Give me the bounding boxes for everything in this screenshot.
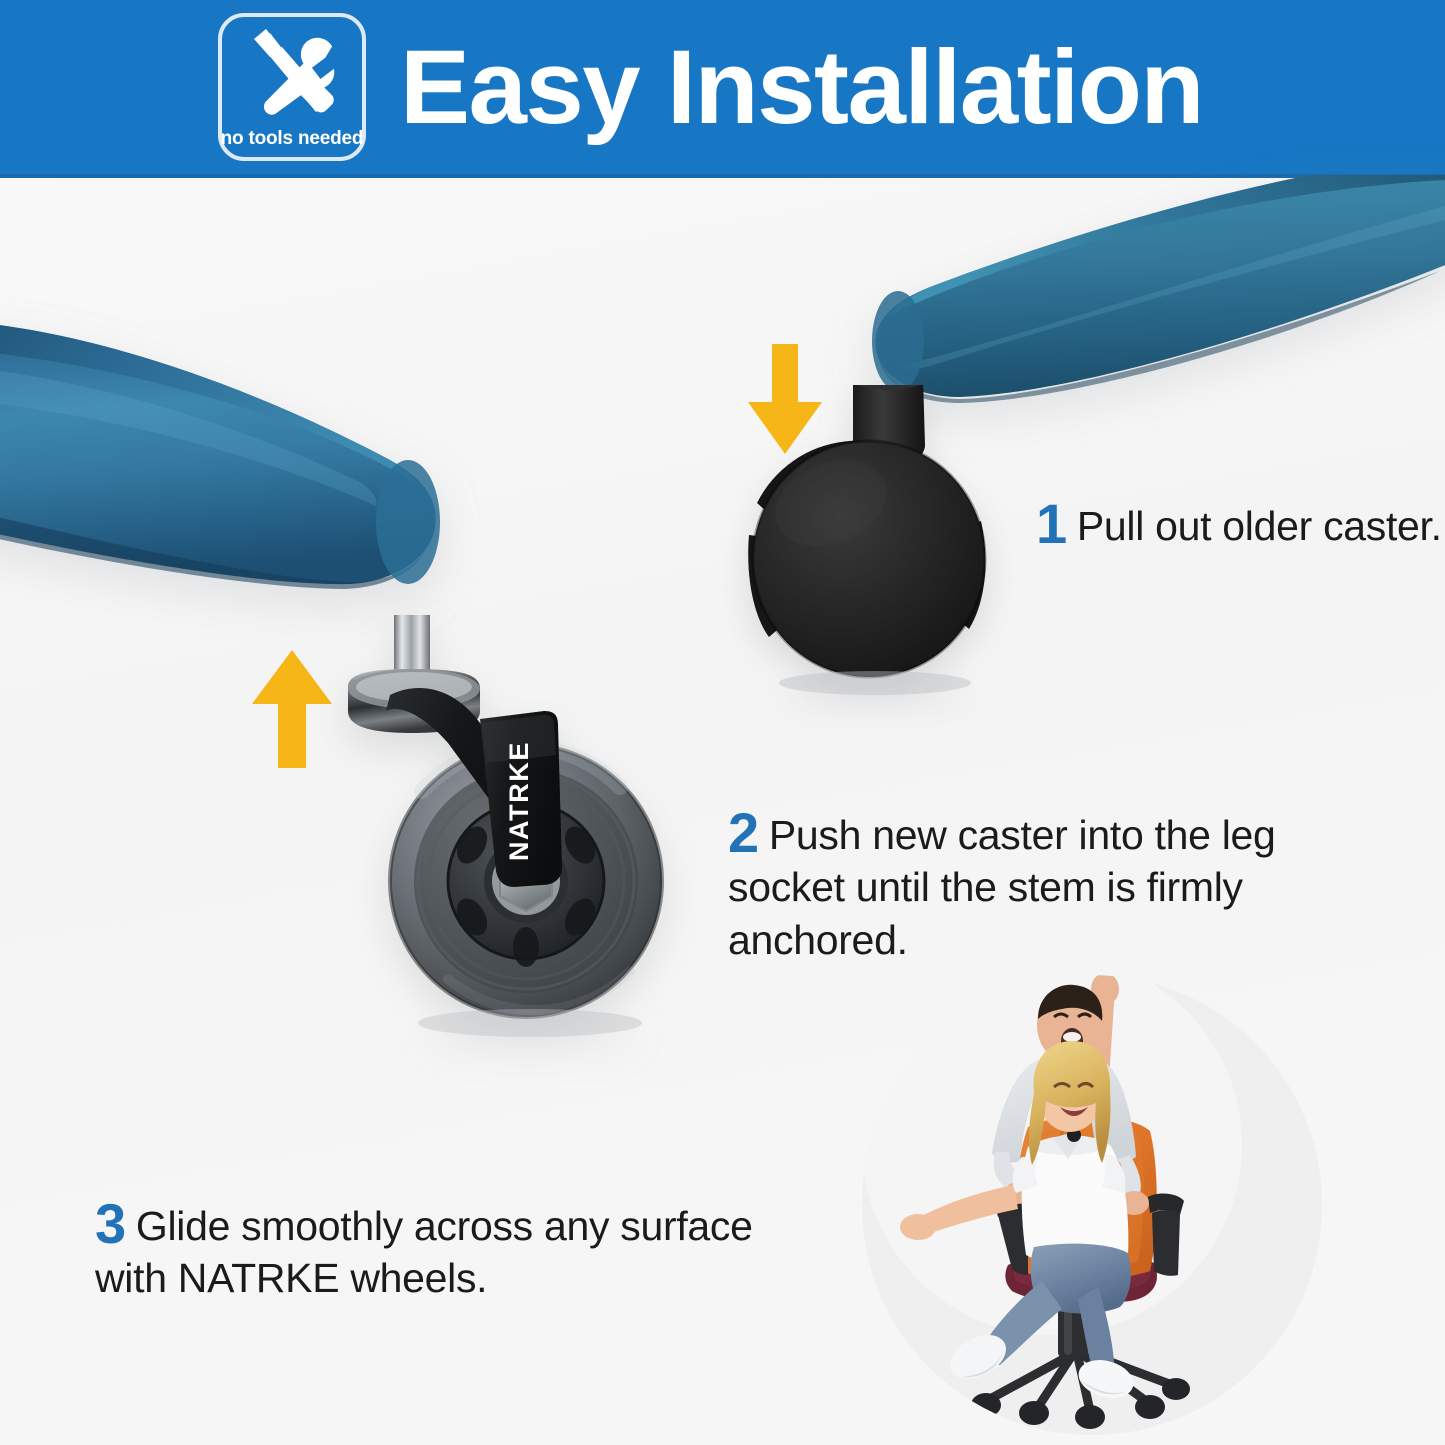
natrke-brand-text: NATRKE: [504, 741, 534, 861]
step-3: 3Glide smoothly across any surface with …: [95, 1196, 795, 1305]
new-natrke-caster-wheel: NATRKE: [330, 615, 730, 1045]
screwdriver-wrench-icon: [240, 27, 344, 127]
step-3-number: 3: [95, 1192, 126, 1255]
old-caster-wheel: [735, 385, 1055, 695]
page-title: Easy Installation: [400, 35, 1203, 140]
no-tools-needed-badge: no tools needed: [218, 13, 366, 161]
no-tools-needed-label: no tools needed: [221, 128, 364, 150]
step-1: 1Pull out older caster.: [1036, 496, 1445, 552]
header-inner: no tools needed Easy Installation: [218, 13, 1203, 161]
step-2: 2Push new caster into the leg socket unt…: [728, 805, 1388, 966]
step-2-number: 2: [728, 801, 759, 864]
infographic-page: no tools needed Easy Installation: [0, 0, 1445, 1445]
step-1-text: Pull out older caster.: [1077, 503, 1442, 549]
chair-leg-left: [0, 300, 540, 660]
header-banner: no tools needed Easy Installation: [0, 0, 1445, 178]
step-1-number: 1: [1036, 492, 1067, 555]
step-2-text: Push new caster into the leg socket unti…: [728, 812, 1276, 963]
lifestyle-photo-couple-on-chair: [862, 975, 1322, 1435]
step-3-text: Glide smoothly across any surface with N…: [95, 1203, 753, 1301]
arrow-up-icon: [248, 648, 336, 770]
